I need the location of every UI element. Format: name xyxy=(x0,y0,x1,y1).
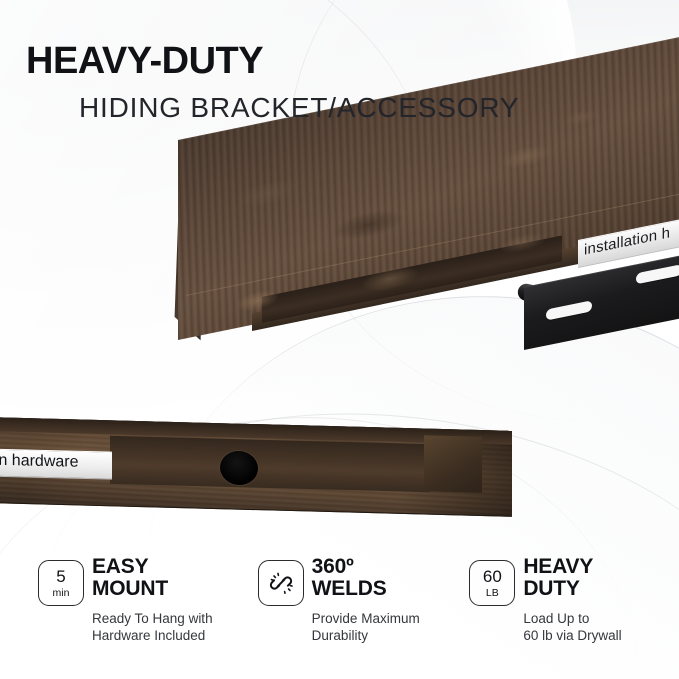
feature-desc-line2: 60 lb via Drywall xyxy=(523,627,621,644)
closeup-shelf-image: ion hardware xyxy=(0,424,512,510)
timer-badge-icon: 5 min xyxy=(38,560,84,606)
closeup-shelf-end-cap xyxy=(424,435,482,493)
product-infographic: HEAVY-DUTY HIDING BRACKET/ACCESSORY inst… xyxy=(0,0,679,679)
feature-360-welds: 360º WELDS Provide Maximum Durability xyxy=(248,552,468,662)
feature-heading: EASY MOUNT xyxy=(92,556,168,601)
feature-row: 5 min EASY MOUNT Ready To Hang with Hard… xyxy=(0,552,679,662)
closeup-label-text: ion hardware xyxy=(0,452,79,472)
bracket-slot-hole xyxy=(546,300,592,320)
feature-heading-line1: EASY xyxy=(92,556,168,578)
feature-heading-line2: WELDS xyxy=(312,578,387,600)
bracket-slot-hole xyxy=(636,264,679,284)
header-block: HEAVY-DUTY HIDING BRACKET/ACCESSORY xyxy=(26,42,519,122)
chain-link-icon xyxy=(258,560,304,606)
feature-desc-line2: Hardware Included xyxy=(92,627,213,644)
badge-value: 5 xyxy=(56,568,65,585)
badge-unit: min xyxy=(53,588,70,599)
feature-description: Provide Maximum Durability xyxy=(312,610,420,645)
feature-heading: HEAVY DUTY xyxy=(523,556,593,601)
feature-heading-line2: MOUNT xyxy=(92,578,168,600)
closeup-installation-label: ion hardware xyxy=(0,448,112,479)
feature-description: Load Up to 60 lb via Drywall xyxy=(523,610,621,645)
feature-heavy-duty: 60 LB HEAVY DUTY Load Up to 60 lb via Dr… xyxy=(467,552,679,662)
feature-heading-line1: 360º xyxy=(312,556,387,578)
weight-badge-icon: 60 LB xyxy=(469,560,515,606)
badge-value: 60 xyxy=(483,568,502,585)
feature-description: Ready To Hang with Hardware Included xyxy=(92,610,213,645)
closeup-shelf-channel xyxy=(110,436,430,492)
page-title: HEAVY-DUTY xyxy=(26,42,519,80)
feature-heading-line1: HEAVY xyxy=(523,556,593,578)
feature-easy-mount: 5 min EASY MOUNT Ready To Hang with Hard… xyxy=(0,552,248,662)
closeup-mounting-hole xyxy=(220,451,258,486)
feature-desc-line1: Provide Maximum xyxy=(312,610,420,627)
feature-heading: 360º WELDS xyxy=(312,556,387,601)
page-subtitle: HIDING BRACKET/ACCESSORY xyxy=(79,94,519,122)
feature-desc-line1: Load Up to xyxy=(523,610,621,627)
badge-unit: LB xyxy=(486,588,499,599)
feature-desc-line1: Ready To Hang with xyxy=(92,610,213,627)
feature-heading-line2: DUTY xyxy=(523,578,593,600)
feature-desc-line2: Durability xyxy=(312,627,420,644)
